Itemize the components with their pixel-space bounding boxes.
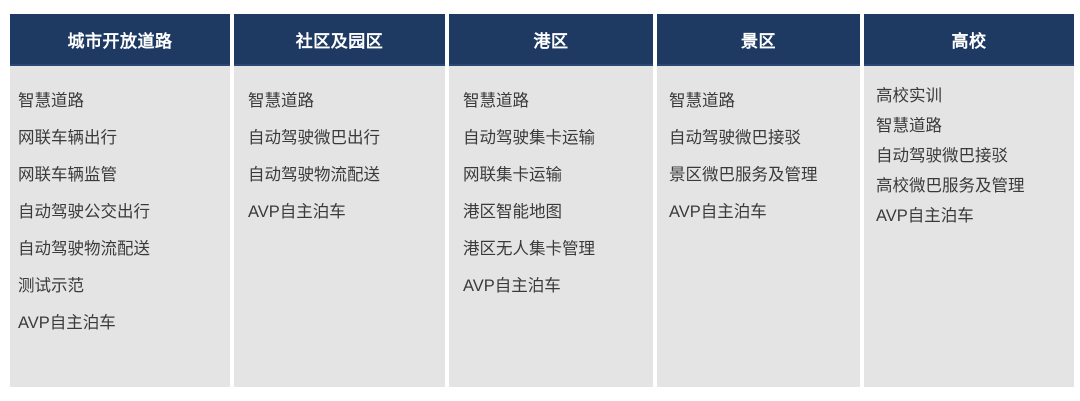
list-item: 港区无人集卡管理: [463, 231, 647, 268]
table-column-city-open-road: 城市开放道路 智慧道路 网联车辆出行 网联车辆监管 自动驾驶公交出行 自动驾驶物…: [10, 14, 230, 387]
list-item: AVP自主泊车: [18, 305, 224, 342]
list-item: 网联车辆出行: [18, 120, 224, 157]
list-item: 高校微巴服务及管理: [876, 171, 1068, 201]
item-list-university: 高校实训 智慧道路 自动驾驶微巴接驳 高校微巴服务及管理 AVP自主泊车: [876, 81, 1068, 231]
list-item: 自动驾驶集卡运输: [463, 120, 647, 157]
list-item: 自动驾驶物流配送: [248, 157, 439, 194]
list-item: AVP自主泊车: [248, 194, 439, 231]
list-item: 港区智能地图: [463, 194, 647, 231]
list-item: 自动驾驶微巴接驳: [876, 141, 1068, 171]
list-item: AVP自主泊车: [669, 194, 854, 231]
table-column-scenic-area: 景区 智慧道路 自动驾驶微巴接驳 景区微巴服务及管理 AVP自主泊车: [657, 14, 860, 387]
item-list-scenic-area: 智慧道路 自动驾驶微巴接驳 景区微巴服务及管理 AVP自主泊车: [669, 83, 854, 231]
list-item: 自动驾驶物流配送: [18, 231, 224, 268]
list-item: 测试示范: [18, 268, 224, 305]
column-body-port-area: 智慧道路 自动驾驶集卡运输 网联集卡运输 港区智能地图 港区无人集卡管理 AVP…: [449, 66, 653, 387]
list-item: 智慧道路: [18, 83, 224, 120]
list-item: 自动驾驶微巴接驳: [669, 120, 854, 157]
list-item: AVP自主泊车: [463, 268, 647, 305]
scenario-category-table: 城市开放道路 智慧道路 网联车辆出行 网联车辆监管 自动驾驶公交出行 自动驾驶物…: [10, 14, 1070, 387]
table-column-university: 高校 高校实训 智慧道路 自动驾驶微巴接驳 高校微巴服务及管理 AVP自主泊车: [864, 14, 1074, 387]
column-header-port-area: 港区: [449, 14, 653, 66]
item-list-city-open-road: 智慧道路 网联车辆出行 网联车辆监管 自动驾驶公交出行 自动驾驶物流配送 测试示…: [18, 83, 224, 342]
column-header-community-park: 社区及园区: [234, 14, 445, 66]
column-header-city-open-road: 城市开放道路: [10, 14, 230, 66]
table-column-community-park: 社区及园区 智慧道路 自动驾驶微巴出行 自动驾驶物流配送 AVP自主泊车: [234, 14, 445, 387]
column-body-city-open-road: 智慧道路 网联车辆出行 网联车辆监管 自动驾驶公交出行 自动驾驶物流配送 测试示…: [10, 66, 230, 387]
column-header-university: 高校: [864, 14, 1074, 66]
list-item: 智慧道路: [876, 111, 1068, 141]
list-item: 智慧道路: [248, 83, 439, 120]
list-item: 自动驾驶公交出行: [18, 194, 224, 231]
item-list-community-park: 智慧道路 自动驾驶微巴出行 自动驾驶物流配送 AVP自主泊车: [248, 83, 439, 231]
list-item: 自动驾驶微巴出行: [248, 120, 439, 157]
list-item: 网联车辆监管: [18, 157, 224, 194]
list-item: 智慧道路: [669, 83, 854, 120]
list-item: 网联集卡运输: [463, 157, 647, 194]
list-item: AVP自主泊车: [876, 201, 1068, 231]
column-header-scenic-area: 景区: [657, 14, 860, 66]
list-item: 景区微巴服务及管理: [669, 157, 854, 194]
list-item: 智慧道路: [463, 83, 647, 120]
column-body-community-park: 智慧道路 自动驾驶微巴出行 自动驾驶物流配送 AVP自主泊车: [234, 66, 445, 387]
column-body-scenic-area: 智慧道路 自动驾驶微巴接驳 景区微巴服务及管理 AVP自主泊车: [657, 66, 860, 387]
list-item: 高校实训: [876, 81, 1068, 111]
table-column-port-area: 港区 智慧道路 自动驾驶集卡运输 网联集卡运输 港区智能地图 港区无人集卡管理 …: [449, 14, 653, 387]
column-body-university: 高校实训 智慧道路 自动驾驶微巴接驳 高校微巴服务及管理 AVP自主泊车: [864, 66, 1074, 387]
item-list-port-area: 智慧道路 自动驾驶集卡运输 网联集卡运输 港区智能地图 港区无人集卡管理 AVP…: [463, 83, 647, 305]
